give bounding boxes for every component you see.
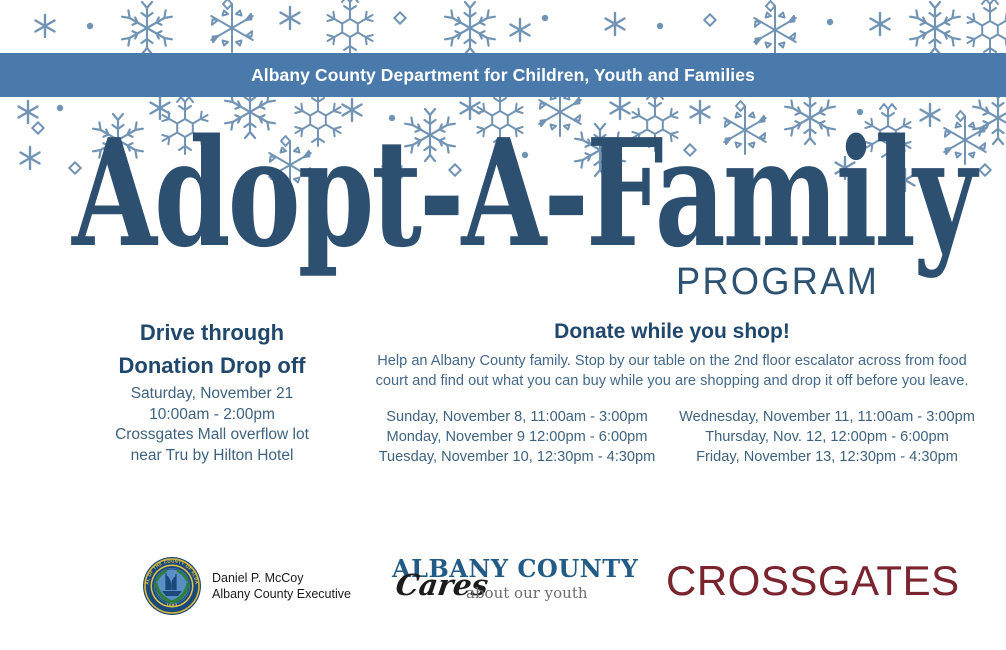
banner-title: Albany County Department for Children, Y…: [251, 65, 755, 86]
county-executive-logo: SEAL OF THE COUNTY OF ALBANY 1683 Daniel…: [142, 556, 351, 616]
donate-heading: Donate while you shop!: [362, 318, 982, 346]
drive-through-detail: near Tru by Hilton Hotel: [62, 446, 362, 467]
drive-through-heading-line2: Donation Drop off: [62, 351, 362, 380]
svg-text:1683: 1683: [166, 602, 179, 608]
department-banner: Albany County Department for Children, Y…: [0, 53, 1006, 97]
drive-through-detail: Crossgates Mall overflow lot: [62, 425, 362, 446]
schedule-row: Thursday, Nov. 12, 12:00pm - 6:00pm: [672, 427, 982, 447]
schedule-grid: Sunday, November 8, 11:00am - 3:00pm Mon…: [362, 407, 982, 467]
county-executive-text: Daniel P. McCoy Albany County Executive: [212, 570, 351, 602]
logo-row: SEAL OF THE COUNTY OF ALBANY 1683 Daniel…: [0, 548, 1006, 628]
page-title: Adopt-A-Family: [72, 118, 974, 268]
schedule-column-early-week: Sunday, November 8, 11:00am - 3:00pm Mon…: [362, 407, 672, 467]
schedule-row: Tuesday, November 10, 12:30pm - 4:30pm: [362, 447, 672, 467]
cares-wordmark-bottom: Cares about our youth: [392, 580, 622, 606]
crossgates-logo: CROSSGATES: [666, 558, 960, 604]
cares-tagline: about our youth: [466, 584, 588, 602]
donate-while-you-shop-column: Donate while you shop! Help an Albany Co…: [362, 318, 982, 467]
schedule-row: Friday, November 13, 12:30pm - 4:30pm: [672, 447, 982, 467]
executive-name: Daniel P. McCoy: [212, 570, 351, 586]
albany-county-seal-icon: SEAL OF THE COUNTY OF ALBANY 1683: [142, 556, 202, 616]
drive-through-detail: 10:00am - 2:00pm: [62, 405, 362, 426]
albany-county-cares-logo: ALBANY COUNTY Cares about our youth: [392, 556, 622, 608]
schedule-column-late-week: Wednesday, November 11, 11:00am - 3:00pm…: [672, 407, 982, 467]
page-subtitle: PROGRAM: [676, 262, 879, 302]
schedule-row: Monday, November 9 12:00pm - 6:00pm: [362, 427, 672, 447]
flyer-poster: Albany County Department for Children, Y…: [0, 0, 1006, 650]
drive-through-column: Drive through Donation Drop off Saturday…: [62, 318, 362, 466]
schedule-row: Wednesday, November 11, 11:00am - 3:00pm: [672, 407, 982, 427]
schedule-row: Sunday, November 8, 11:00am - 3:00pm: [362, 407, 672, 427]
executive-title: Albany County Executive: [212, 586, 351, 602]
drive-through-detail: Saturday, November 21: [62, 384, 362, 405]
drive-through-heading-line1: Drive through: [62, 318, 362, 347]
donate-blurb: Help an Albany County family. Stop by ou…: [370, 352, 974, 391]
